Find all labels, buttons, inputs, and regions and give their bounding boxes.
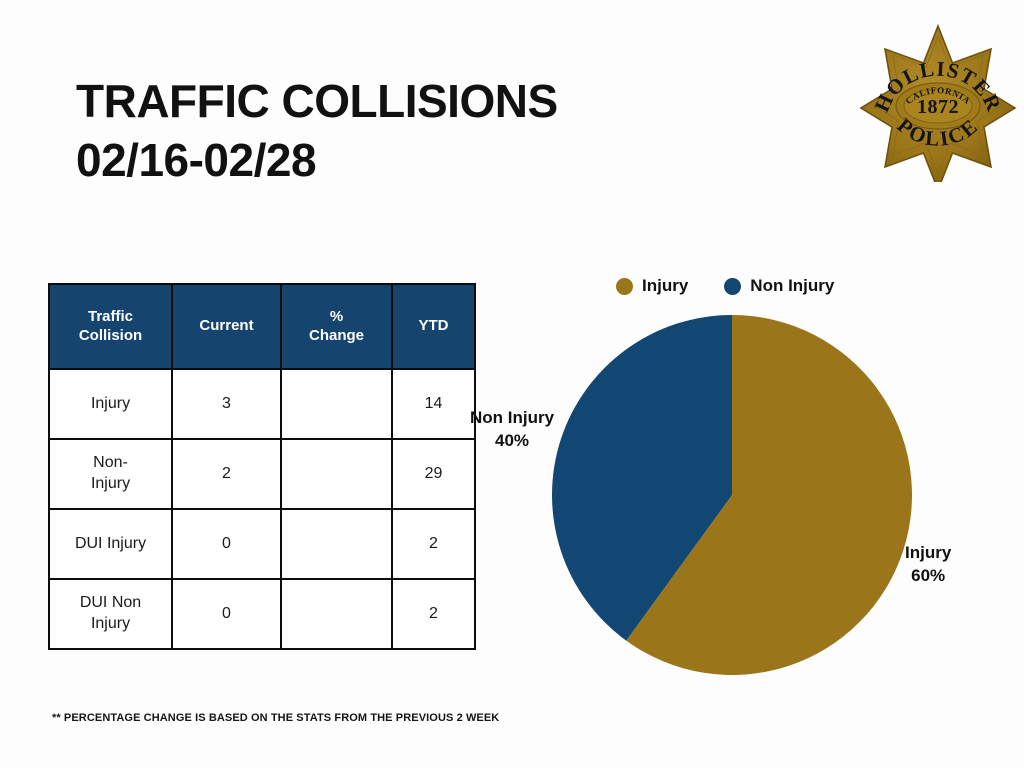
page-title-line-2: 02/16-02/28	[76, 131, 696, 190]
cell-current: 0	[172, 579, 281, 649]
table-body: Injury 3 14 Non- Injury 2 29 DUI Injury …	[49, 369, 475, 649]
pie-chart	[540, 300, 930, 692]
cell-percent-change	[281, 439, 392, 509]
cell-line: DUI Injury	[75, 535, 146, 552]
legend-item-injury: Injury	[616, 276, 688, 296]
cell-line: Non-	[93, 454, 128, 471]
pie-callout-injury-label: Injury	[905, 543, 951, 562]
table-header: Traffic Collision Current % Change YTD	[49, 284, 475, 369]
legend-item-non-injury: Non Injury	[724, 276, 834, 296]
cell-line: Injury	[91, 395, 130, 412]
legend-label-injury: Injury	[642, 276, 688, 296]
column-header-percent-change: % Change	[281, 284, 392, 369]
column-header-line: Current	[199, 317, 253, 334]
column-header-line: Change	[309, 327, 364, 344]
legend-label-non-injury: Non Injury	[750, 276, 834, 296]
row-label-dui-injury: DUI Injury	[49, 509, 172, 579]
cell-ytd: 2	[392, 579, 475, 649]
cell-ytd: 14	[392, 369, 475, 439]
page-title: TRAFFIC COLLISIONS 02/16-02/28	[76, 72, 696, 190]
cell-current: 3	[172, 369, 281, 439]
cell-current: 2	[172, 439, 281, 509]
cell-ytd: 29	[392, 439, 475, 509]
cell-percent-change	[281, 369, 392, 439]
footnote: ** PERCENTAGE CHANGE IS BASED ON THE STA…	[52, 712, 499, 724]
hollister-police-badge-icon: HOLLISTER CALIFORNIA 1872 POLICE	[857, 20, 1019, 182]
pie-callout-injury-value: 60%	[911, 566, 945, 585]
cell-line: Injury	[91, 475, 130, 492]
row-label-dui-non-injury: DUI Non Injury	[49, 579, 172, 649]
column-header-line: YTD	[419, 317, 449, 334]
table-row: Injury 3 14	[49, 369, 475, 439]
traffic-collision-table: Traffic Collision Current % Change YTD I…	[48, 283, 476, 650]
pie-callout-injury: Injury 60%	[905, 542, 951, 588]
cell-percent-change	[281, 509, 392, 579]
cell-current: 0	[172, 509, 281, 579]
cell-ytd: 2	[392, 509, 475, 579]
pie-chart-legend: Injury Non Injury	[616, 276, 834, 296]
table-row: DUI Injury 0 2	[49, 509, 475, 579]
cell-line: DUI Non	[80, 594, 141, 611]
column-header-line: Collision	[79, 327, 142, 344]
table-header-row: Traffic Collision Current % Change YTD	[49, 284, 475, 369]
table-row: Non- Injury 2 29	[49, 439, 475, 509]
table-row: DUI Non Injury 0 2	[49, 579, 475, 649]
row-label-injury: Injury	[49, 369, 172, 439]
column-header-ytd: YTD	[392, 284, 475, 369]
pie-callout-non-injury: Non Injury 40%	[470, 407, 554, 453]
legend-swatch-non-injury-icon	[724, 278, 741, 295]
column-header-current: Current	[172, 284, 281, 369]
cell-percent-change	[281, 579, 392, 649]
cell-line: Injury	[91, 615, 130, 632]
pie-callout-non-injury-label: Non Injury	[470, 408, 554, 427]
column-header-traffic-collision: Traffic Collision	[49, 284, 172, 369]
pie-callout-non-injury-value: 40%	[495, 431, 529, 450]
badge-year-text: 1872	[917, 96, 959, 118]
page-title-line-1: TRAFFIC COLLISIONS	[76, 72, 696, 131]
legend-swatch-injury-icon	[616, 278, 633, 295]
column-header-line: Traffic	[88, 308, 133, 325]
column-header-line: %	[330, 308, 343, 325]
row-label-non-injury: Non- Injury	[49, 439, 172, 509]
